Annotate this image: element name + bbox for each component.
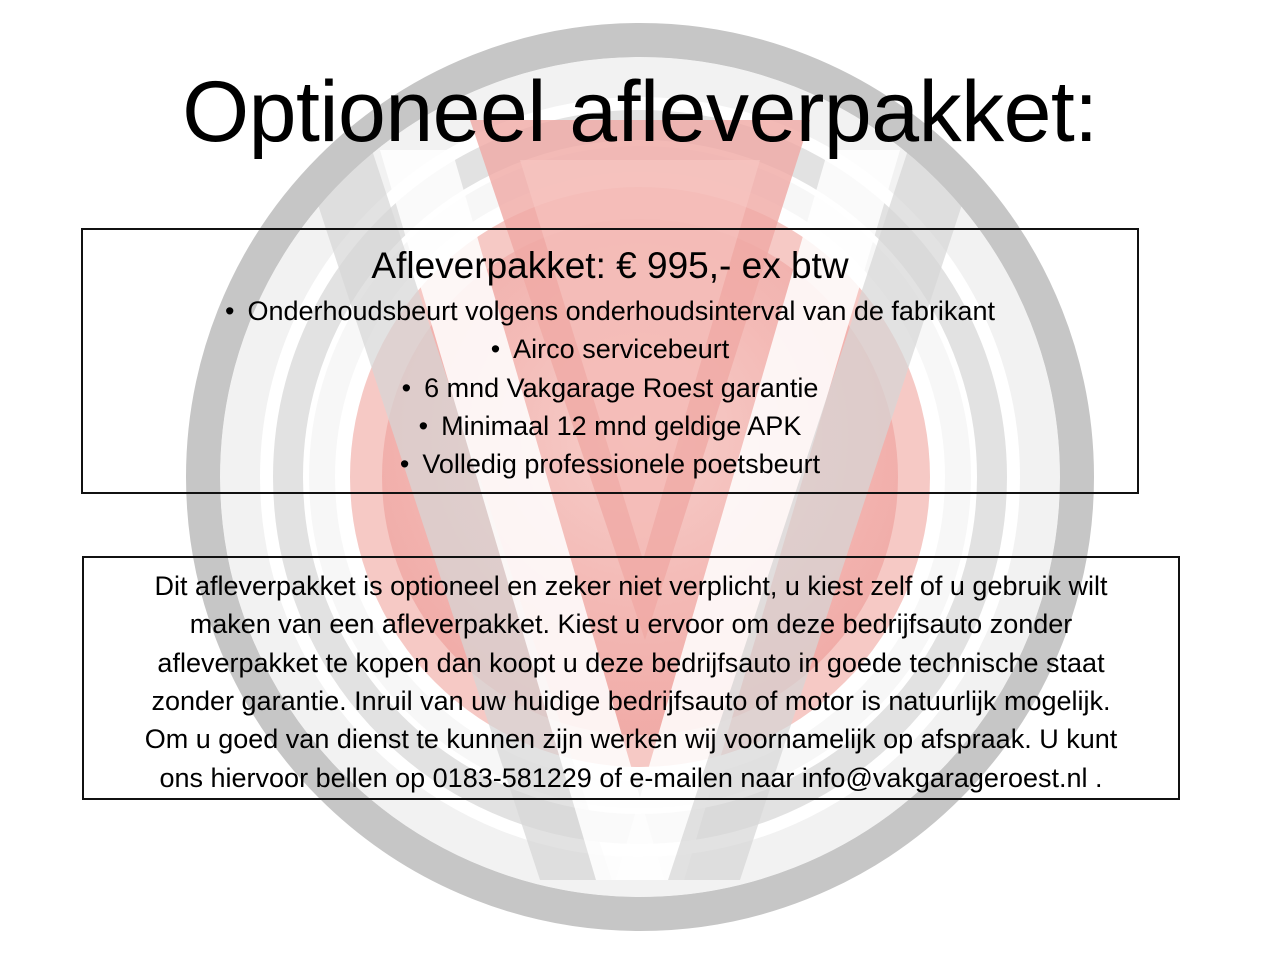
bullet-icon: • bbox=[400, 445, 409, 483]
list-item-label: Onderhoudsbeurt volgens onderhoudsinterv… bbox=[247, 296, 995, 326]
list-item: •Onderhoudsbeurt volgens onderhoudsinter… bbox=[83, 292, 1137, 330]
list-item: •6 mnd Vakgarage Roest garantie bbox=[83, 369, 1137, 407]
list-item-label: 6 mnd Vakgarage Roest garantie bbox=[424, 373, 818, 403]
slide-canvas: Optioneel afleverpakket: Afleverpakket: … bbox=[0, 0, 1280, 960]
bullet-icon: • bbox=[225, 292, 234, 330]
page-title: Optioneel afleverpakket: bbox=[70, 68, 1210, 157]
disclaimer-line: zonder garantie. Inruil van uw huidige b… bbox=[100, 682, 1162, 720]
afleverpakket-box: Afleverpakket: € 995,- ex btw •Onderhoud… bbox=[81, 228, 1139, 494]
afleverpakket-bullet-list: •Onderhoudsbeurt volgens onderhoudsinter… bbox=[83, 292, 1137, 482]
list-item-label: Volledig professionele poetsbeurt bbox=[422, 449, 820, 479]
disclaimer-line: maken van een afleverpakket. Kiest u erv… bbox=[100, 605, 1162, 643]
afleverpakket-heading: Afleverpakket: € 995,- ex btw bbox=[83, 244, 1137, 288]
disclaimer-box: Dit afleverpakket is optioneel en zeker … bbox=[82, 556, 1180, 800]
list-item: •Airco servicebeurt bbox=[83, 330, 1137, 368]
bullet-icon: • bbox=[402, 369, 411, 407]
bullet-icon: • bbox=[491, 330, 500, 368]
disclaimer-line: afleverpakket te kopen dan koopt u deze … bbox=[100, 644, 1162, 682]
list-item: •Minimaal 12 mnd geldige APK bbox=[83, 407, 1137, 445]
slide-content: Optioneel afleverpakket: Afleverpakket: … bbox=[0, 0, 1280, 960]
disclaimer-line: Om u goed van dienst te kunnen zijn werk… bbox=[100, 720, 1162, 758]
list-item-label: Airco servicebeurt bbox=[513, 334, 729, 364]
disclaimer-line: Dit afleverpakket is optioneel en zeker … bbox=[100, 567, 1162, 605]
disclaimer-line-contact: ons hiervoor bellen op 0183-581229 of e-… bbox=[100, 759, 1162, 797]
bullet-icon: • bbox=[419, 407, 428, 445]
list-item: •Volledig professionele poetsbeurt bbox=[83, 445, 1137, 483]
list-item-label: Minimaal 12 mnd geldige APK bbox=[441, 411, 801, 441]
